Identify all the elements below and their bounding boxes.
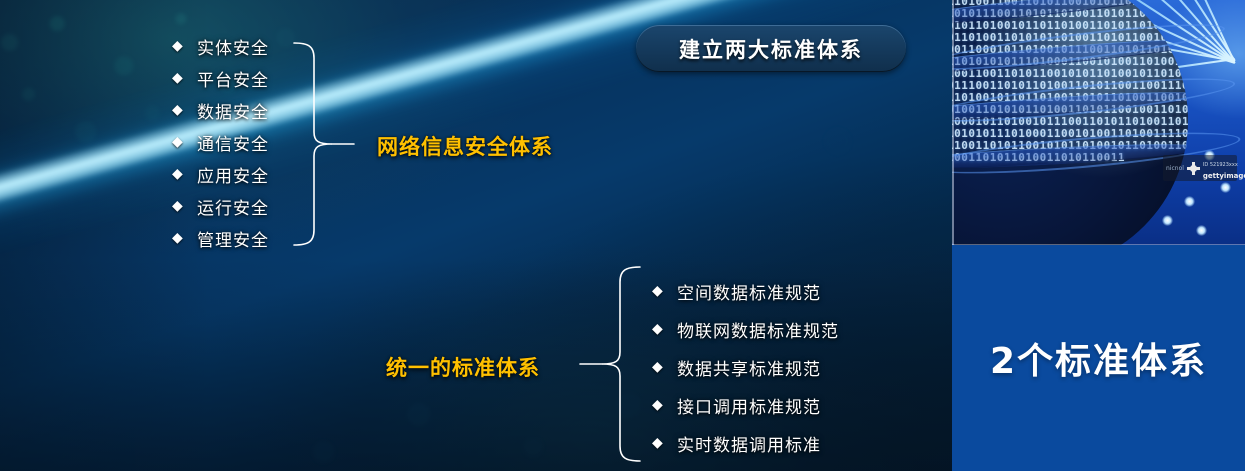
list-item-label: 实时数据调用标准 [677,431,821,456]
list-item-label: 空间数据标准规范 [677,279,821,304]
list-item: ◆实时数据调用标准 [652,424,839,462]
list-item-label: 通信安全 [197,130,269,155]
list-item-label: 运行安全 [197,194,269,219]
caption-label: 2个标准体系 [990,332,1207,384]
list-item-label: 物联网数据标准规范 [677,317,839,342]
list-item-label: 数据安全 [197,98,269,123]
list-item-label: 平台安全 [197,66,269,91]
list-item-label: 数据共享标准规范 [677,355,821,380]
list-item: ◆数据安全 [172,94,269,126]
list-item: ◆管理安全 [172,222,269,254]
security-items-list: ◆实体安全 ◆平台安全 ◆数据安全 ◆通信安全 ◆应用安全 ◆运行安全 ◆管理安… [172,30,269,254]
diamond-icon: ◆ [172,167,188,181]
list-item-label: 接口调用标准规范 [677,393,821,418]
diamond-icon: ◆ [172,135,188,149]
watermark-text: ID 521923xxx gettyimages [1203,157,1245,180]
list-item: ◆空间数据标准规范 [652,272,839,310]
watermark-id: ID 521923xxx [1203,162,1238,168]
list-item: ◆数据共享标准规范 [652,348,839,386]
list-item: ◆运行安全 [172,190,269,222]
list-item: ◆物联网数据标准规范 [652,310,839,348]
list-item: ◆应用安全 [172,158,269,190]
diamond-icon: ◆ [652,360,668,374]
list-item-label: 实体安全 [197,34,269,59]
right-brace [578,262,642,466]
getty-burst-icon [1187,162,1200,175]
photo-left-edge [952,0,954,245]
diamond-icon: ◆ [172,71,188,85]
fiber-glow [1220,182,1231,193]
diamond-icon: ◆ [652,322,668,336]
title-badge: 建立两大标准体系 [636,25,906,72]
diamond-icon: ◆ [172,103,188,117]
watermark-left-label: nicnol [1166,165,1184,172]
standard-items-list: ◆空间数据标准规范 ◆物联网数据标准规范 ◆数据共享标准规范 ◆接口调用标准规范… [652,272,839,462]
group-label-network-security: 网络信息安全体系 [377,131,553,161]
list-item: ◆接口调用标准规范 [652,386,839,424]
list-item-label: 应用安全 [197,162,269,187]
group-label-unified-standard: 统一的标准体系 [386,352,540,382]
caption-panel: 2个标准体系 [952,245,1245,471]
diamond-icon: ◆ [172,199,188,213]
diamond-icon: ◆ [652,284,668,298]
list-item: ◆通信安全 [172,126,269,158]
right-column: 0110100110100110001011010010111001101011… [952,0,1245,471]
getty-watermark: nicnol ID 521923xxx gettyimages [1163,155,1237,181]
diamond-icon: ◆ [652,436,668,450]
list-item-label: 管理安全 [197,226,269,251]
list-item: ◆平台安全 [172,62,269,94]
diamond-icon: ◆ [172,231,188,245]
list-item: ◆实体安全 [172,30,269,62]
left-brace [292,38,356,250]
watermark-brand: gettyimages [1203,172,1245,180]
title-badge-label: 建立两大标准体系 [679,34,863,64]
diamond-icon: ◆ [652,398,668,412]
slide-canvas: 建立两大标准体系 ◆实体安全 ◆平台安全 ◆数据安全 ◆通信安全 ◆应用安全 ◆… [0,0,1245,471]
binary-globe-photo: 0110100110100110001011010010111001101011… [952,0,1245,245]
diamond-icon: ◆ [172,39,188,53]
fiber-glow [1196,225,1207,236]
